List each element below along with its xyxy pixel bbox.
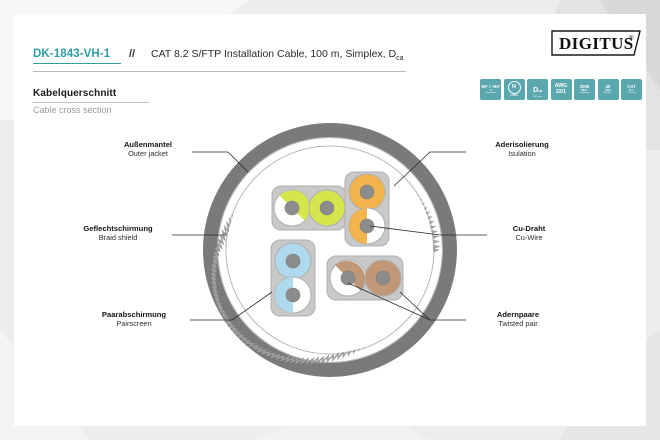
badge-line2: LSZH [510,95,517,98]
badge-line2: 22/1 [556,90,566,95]
callout-outer-jacket: Außenmantel Outer jacket [96,140,200,159]
ethernet-speed-badge: 40 Gbit Ethernet [598,79,619,100]
blue-wire-striped [275,277,311,313]
callout-cu-wire-de: Cu-Draht [490,224,568,233]
brown-conductor-2 [376,271,390,285]
green-pair [272,186,346,230]
green-conductor-1 [285,201,299,215]
callout-braid-shield: Geflechtschirmung Braid shield [62,224,174,243]
cable-cross-section-diagram [0,0,660,440]
frequency-badge: 2000 MHz Frequency [574,79,595,100]
cpr-class-badge: Dca CPR class [527,79,548,100]
brown-pair [327,256,403,300]
category-badge: CAT 8.2 Class I/II [621,79,642,100]
brown-conductor-1 [341,271,355,285]
callout-braid-shield-de: Geflechtschirmung [62,224,174,233]
green-wire-striped [274,190,310,226]
callout-insulation-de: Aderisolierung [470,140,574,149]
badge-line3: Frequency [580,92,590,94]
callout-pairscreen: Paarabschirmung Pairscreen [78,310,190,329]
badge-line3: Ethernet [604,92,612,94]
brown-wire-solid [365,260,401,296]
badge-line3: Class I/II [628,92,636,94]
awg-badge: AWG 22/1 [551,79,572,100]
blue-pair [271,240,315,316]
green-wire-solid [309,190,345,226]
callout-cu-wire: Cu-Draht Cu-Wire [490,224,568,243]
badge-line3: CPR class [533,96,542,98]
spec-badge-row: -55° / +60° °C Temperature N LSZH Dca CP… [480,79,642,100]
brown-wire-striped [330,260,366,296]
callout-twisted-pair: Adernpaare Twisted pair [470,310,566,329]
blue-conductor-2 [286,288,300,302]
callout-pairscreen-en: Pairscreen [78,319,190,328]
callout-cu-wire-en: Cu-Wire [490,233,568,242]
logo-wordmark: DIGITUS [559,34,634,53]
callout-insulation-en: Isulation [470,149,574,158]
green-conductor-2 [320,201,334,215]
orange-wire-striped [349,208,385,244]
blue-conductor-1 [286,254,300,268]
blue-wire-solid [275,243,311,279]
orange-wire-solid [349,174,385,210]
orange-conductor-1 [360,185,374,199]
callout-outer-jacket-en: Outer jacket [96,149,200,158]
halogen-free-badge: -55° / +60° °C Temperature [480,79,501,100]
digitus-logo: DIGITUS ® [550,28,642,58]
callout-pairscreen-de: Paarabschirmung [78,310,190,319]
callout-braid-shield-en: Braid shield [62,233,174,242]
callout-outer-jacket-de: Außenmantel [96,140,200,149]
badge-line1: Dca [533,80,542,96]
badge-sup: ca [538,89,542,93]
logo-registered-mark: ® [629,35,634,42]
badge-line3: Temperature [485,92,496,94]
callout-twisted-pair-de: Adernpaare [470,310,566,319]
callout-insulation: Aderisolierung Isulation [470,140,574,159]
orange-pair [345,172,389,246]
lszh-badge: N LSZH [504,79,525,100]
callout-twisted-pair-en: Twisted pair [470,319,566,328]
